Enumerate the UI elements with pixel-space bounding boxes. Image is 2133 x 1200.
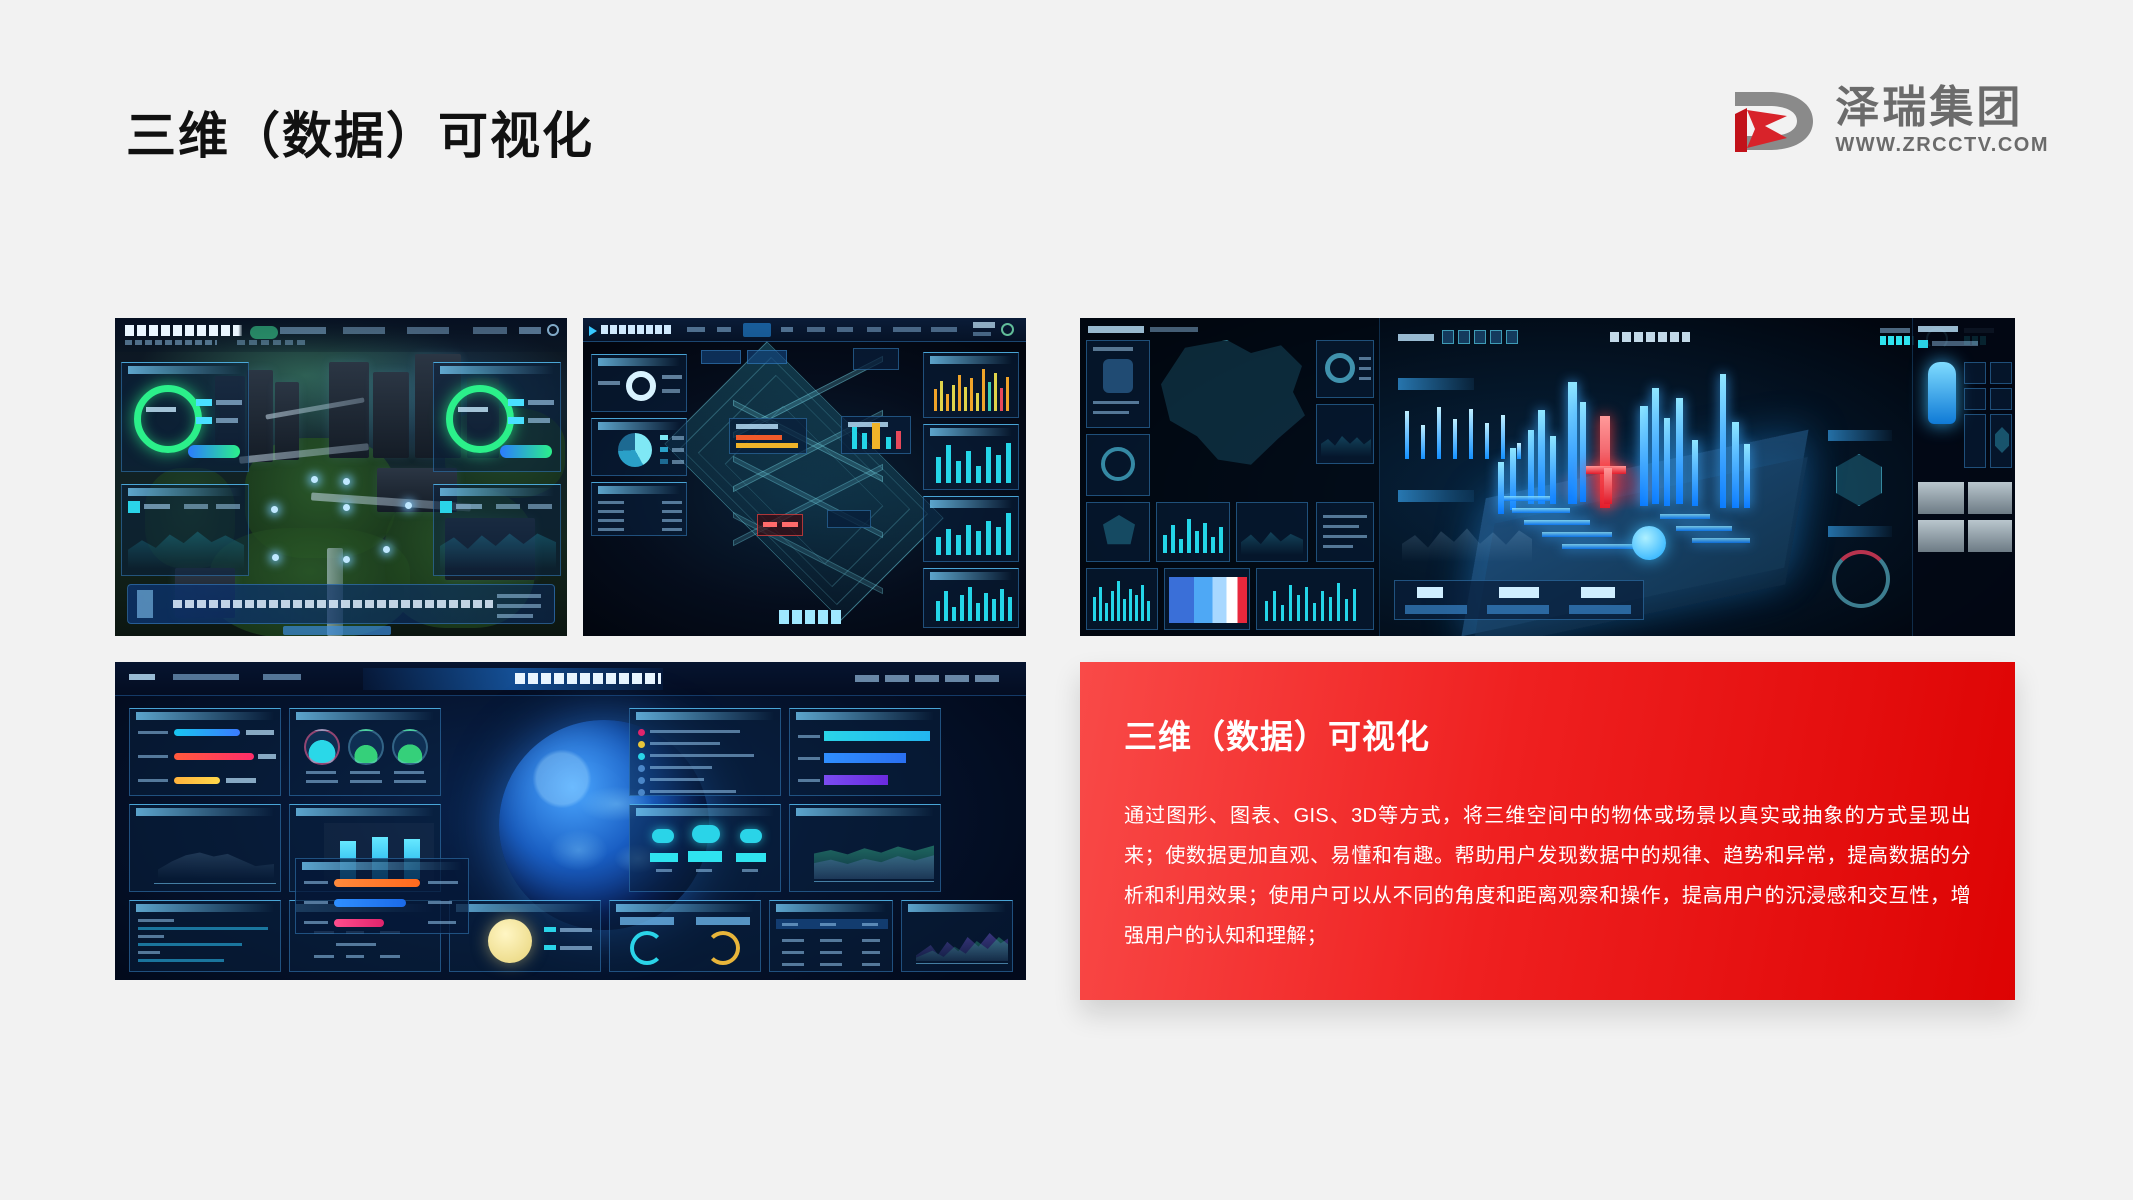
city-center-bars xyxy=(1394,396,1530,470)
campus-banner-text xyxy=(173,600,493,608)
city-left-bars-panel xyxy=(1156,502,1230,562)
city-center-panel-title-1 xyxy=(1398,378,1474,390)
city-left-heatmap xyxy=(1164,568,1250,630)
city-tank-kpi-3 xyxy=(1964,388,1986,410)
globe-timestamp xyxy=(855,675,1005,682)
globe-panel-stackarea xyxy=(789,804,941,892)
screenshot-campus-dashboard[interactable] xyxy=(115,318,567,636)
globe-panel-rings xyxy=(609,900,761,972)
building-right-chart-2 xyxy=(923,424,1019,490)
globe-panel-legend xyxy=(629,708,781,796)
city-right-panel-title-1 xyxy=(1828,430,1892,441)
city-tank-kpi-4 xyxy=(1990,388,2012,410)
company-logo: 泽瑞集团 WWW.ZRCCTV.COM xyxy=(1725,82,2049,160)
city-kpi-strip xyxy=(1394,580,1644,620)
globe-panel-gauges xyxy=(289,708,441,796)
globe-nav-3d[interactable] xyxy=(173,674,239,680)
building-pie-panel xyxy=(591,418,687,476)
city-left-radar-panel xyxy=(1086,502,1150,562)
city-center-title xyxy=(1610,332,1690,342)
building-title xyxy=(601,325,673,334)
building-tab-b[interactable] xyxy=(747,350,787,364)
building-alarm-tile[interactable] xyxy=(757,514,803,536)
campus-settings-icon[interactable] xyxy=(547,324,559,336)
campus-left-stat-panel xyxy=(121,362,249,472)
building-hotspot-left[interactable] xyxy=(729,418,807,454)
building-right-chart-3 xyxy=(923,496,1019,562)
city-left-person-panel xyxy=(1086,340,1150,428)
building-tab-a[interactable] xyxy=(701,350,741,364)
building-tab-active[interactable] xyxy=(743,323,771,337)
description-title: 三维（数据）可视化 xyxy=(1124,710,1971,758)
description-panel: 三维（数据）可视化 通过图形、图表、GIS、3D等方式，将三维空间中的物体或场景… xyxy=(1080,662,2015,1000)
building-right-chart-4 xyxy=(923,568,1019,628)
city-left-line-panel xyxy=(1316,404,1374,464)
city-tank-vessel xyxy=(1928,362,1956,424)
globe-dashboard-title xyxy=(515,673,661,684)
city-right-donut xyxy=(1832,550,1890,608)
campus-lower-right-panel xyxy=(433,484,561,576)
building-play-icon xyxy=(589,326,597,336)
city-left-gauge-panel xyxy=(1086,434,1150,496)
city-right-panel-title-2 xyxy=(1828,526,1892,537)
campus-right-stat-panel xyxy=(433,362,561,472)
globe-panel-moongauge xyxy=(449,900,601,972)
building-weather-tile xyxy=(853,348,899,370)
city-tank-chart xyxy=(1964,414,1986,468)
globe-panel-list xyxy=(129,900,281,972)
building-hotspot-right[interactable] xyxy=(841,416,911,454)
city-tank-kpi-1 xyxy=(1964,362,1986,384)
city-metric-1 xyxy=(1880,336,1914,345)
page-title: 三维（数据）可视化 xyxy=(126,96,594,168)
city-left-stat-list xyxy=(1316,502,1374,562)
city-left-bars2 xyxy=(1086,568,1158,630)
camera-feed-2[interactable] xyxy=(1968,482,2012,514)
globe-overlay-bars xyxy=(295,858,469,934)
campus-title xyxy=(125,325,243,336)
building-donut-panel xyxy=(591,354,687,412)
camera-feed-3[interactable] xyxy=(1918,520,1964,552)
globe-panel-table xyxy=(769,900,893,972)
globe-nav-stats[interactable] xyxy=(263,674,301,680)
building-list-panel xyxy=(591,482,687,536)
screenshot-globe-dashboard[interactable] xyxy=(115,662,1026,980)
globe-panel-cloudstats xyxy=(629,804,781,892)
logo-website-url: WWW.ZRCCTV.COM xyxy=(1835,134,2049,157)
city-center-panel-title-2 xyxy=(1398,490,1474,502)
building-weather-icon xyxy=(1001,323,1014,336)
city-tank-kpi-2 xyxy=(1990,362,2012,384)
screenshot-city-dashboard[interactable] xyxy=(1080,318,2015,636)
logo-mark-icon xyxy=(1725,84,1821,158)
camera-feed-1[interactable] xyxy=(1918,482,1964,514)
globe-panel-hbars xyxy=(789,708,941,796)
city-tank-radar xyxy=(1990,414,2012,468)
screenshot-building-dashboard[interactable] xyxy=(583,318,1026,636)
building-right-chart-1 xyxy=(923,352,1019,418)
description-body: 通过图形、图表、GIS、3D等方式，将三维空间中的物体或场景以真实或抽象的方式呈… xyxy=(1124,796,1971,956)
campus-lower-left-panel xyxy=(121,484,249,576)
globe-panel-progress xyxy=(129,708,281,796)
building-floor-selector[interactable] xyxy=(779,610,843,624)
city-counter xyxy=(1442,330,1518,344)
globe-panel-line xyxy=(129,804,281,892)
city-left-donut-panel xyxy=(1316,340,1374,398)
logo-d-glyph-icon xyxy=(1725,86,1817,156)
city-left-bars3 xyxy=(1256,568,1374,630)
globe-panel-mountain xyxy=(901,900,1013,972)
building-tag-tile[interactable] xyxy=(827,510,871,528)
city-left-area-panel xyxy=(1236,502,1308,562)
camera-feed-4[interactable] xyxy=(1968,520,2012,552)
globe-nav-home[interactable] xyxy=(129,674,155,680)
logo-company-name: 泽瑞集团 xyxy=(1835,86,2049,130)
